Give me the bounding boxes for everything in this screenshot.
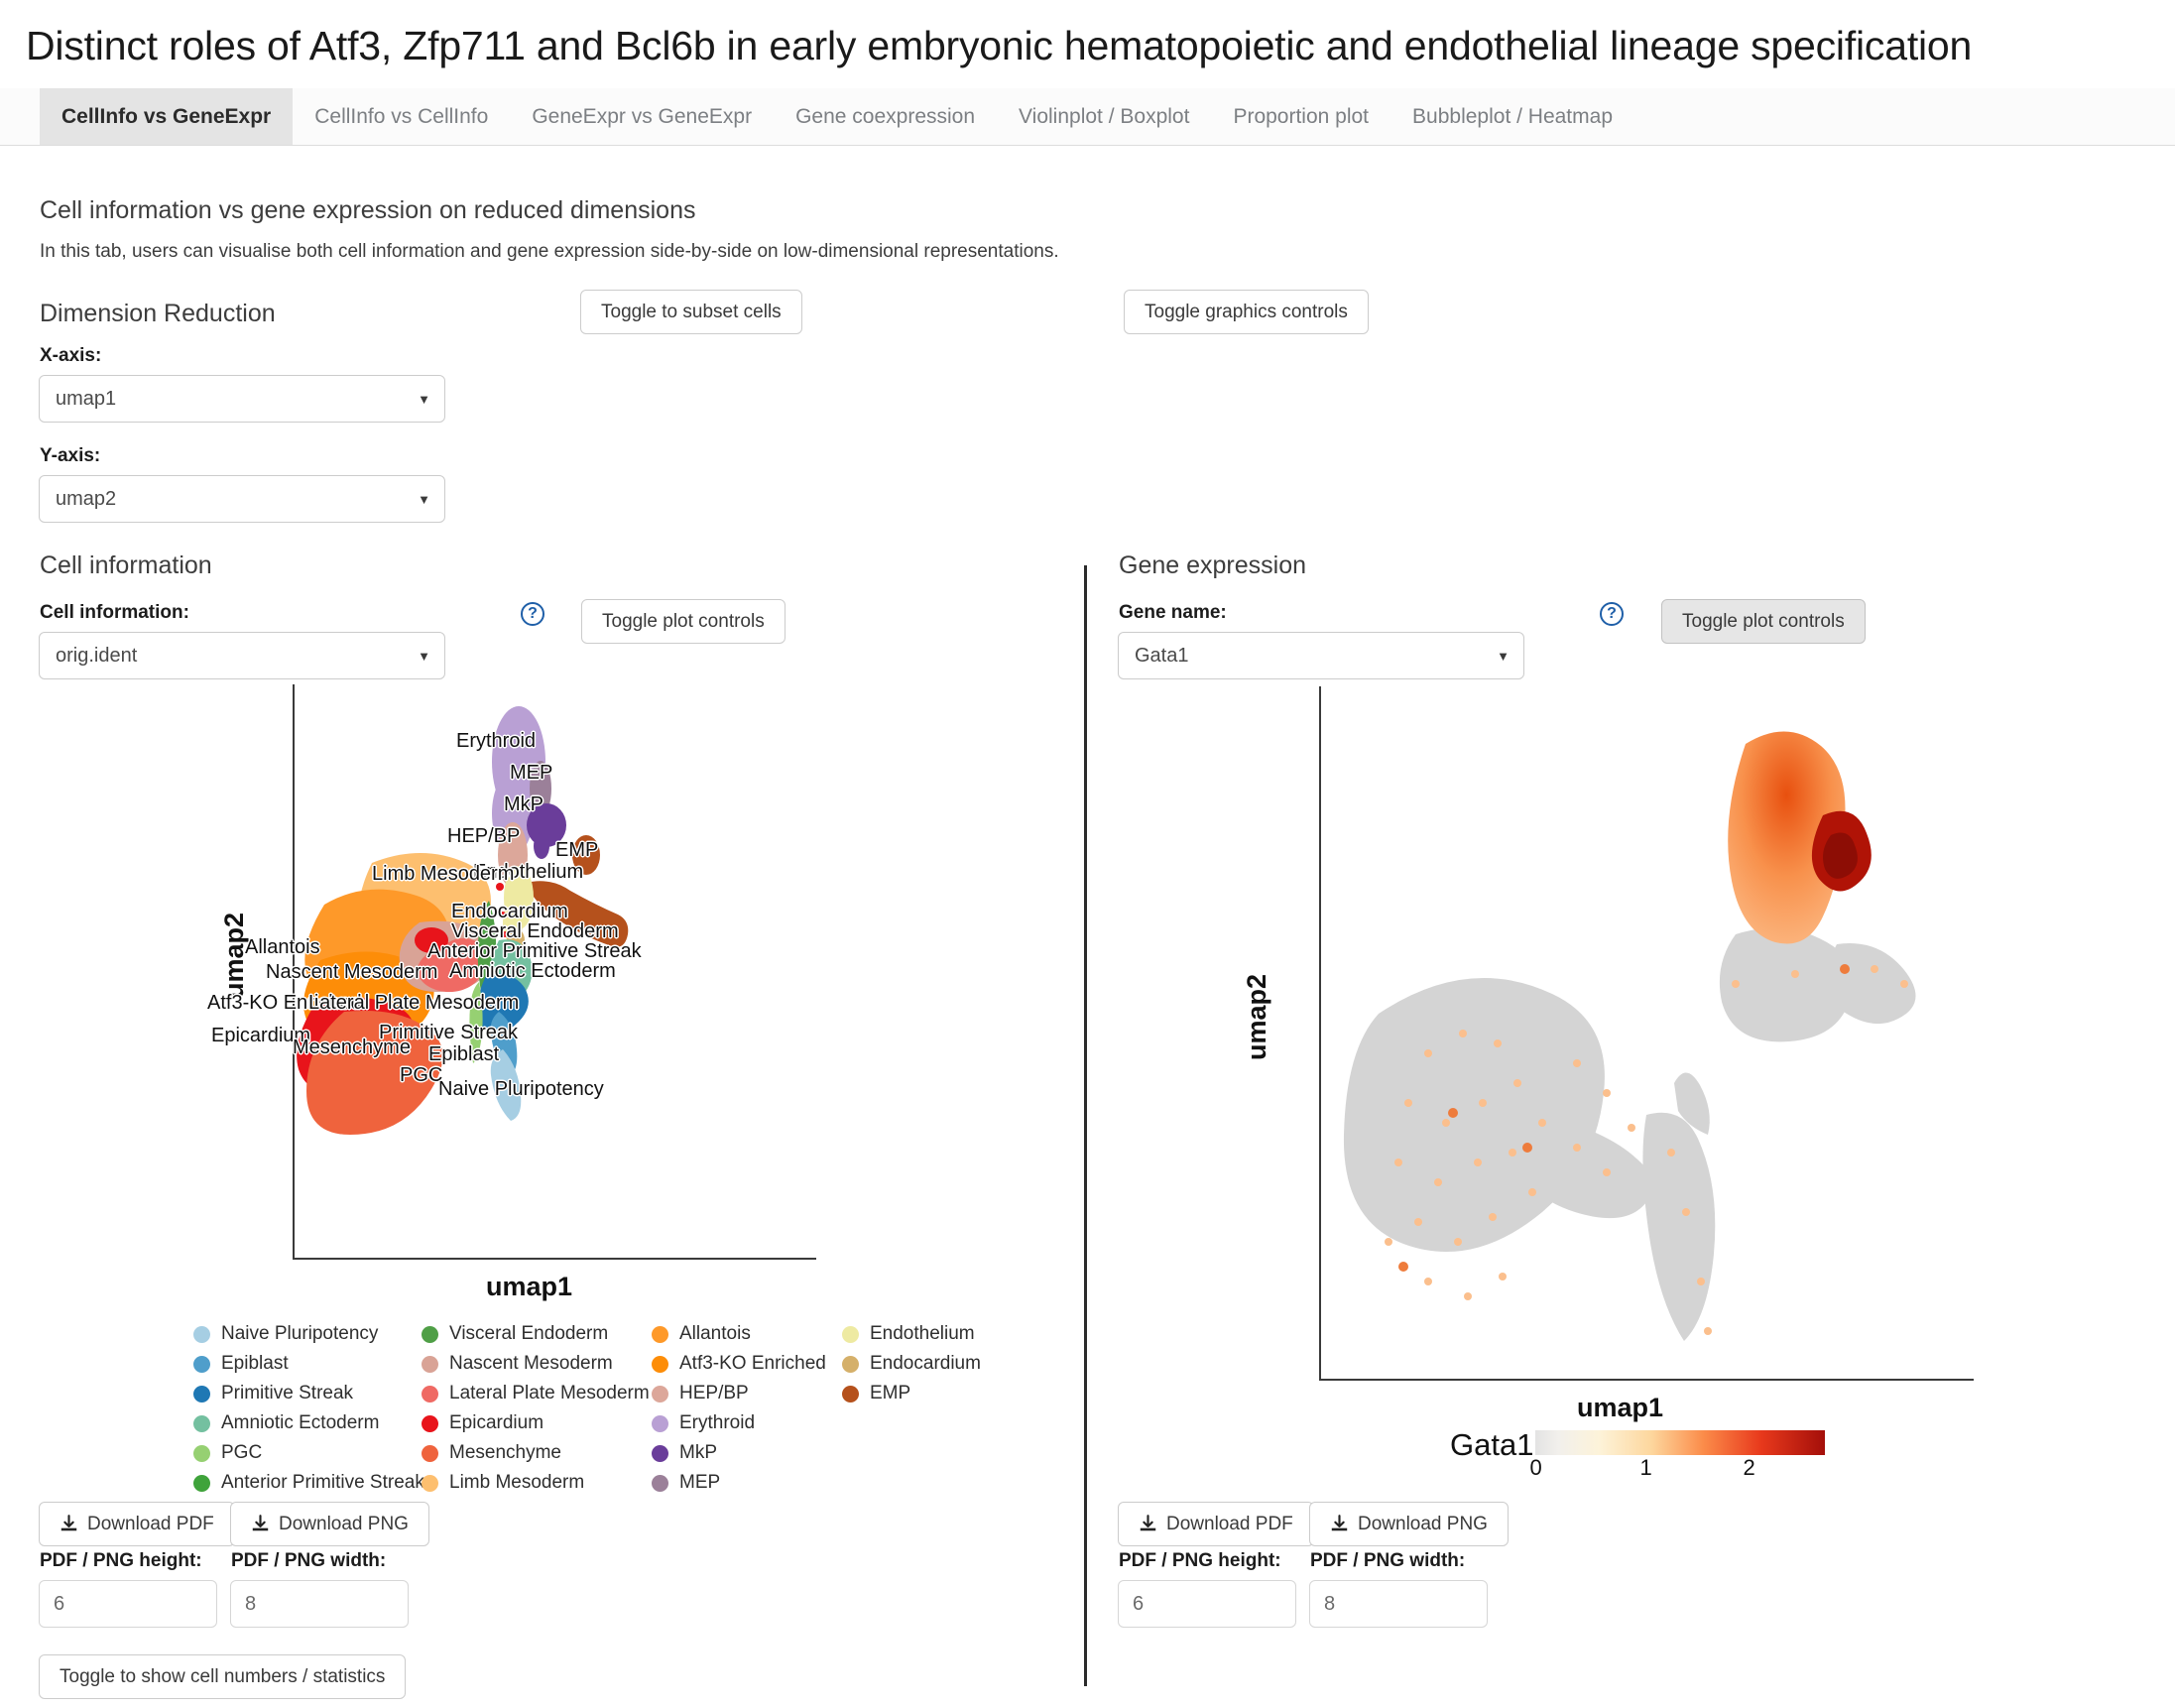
- legend-color-dot: [422, 1415, 438, 1432]
- right-download-pdf-button[interactable]: Download PDF: [1118, 1502, 1314, 1546]
- legend-item[interactable]: Endothelium: [842, 1319, 961, 1349]
- legend-color-dot: [652, 1326, 668, 1343]
- cluster-label-hep-bp: HEP/BP: [447, 825, 520, 848]
- legend-label: Epiblast: [221, 1353, 289, 1375]
- legend-label: Lateral Plate Mesoderm: [449, 1383, 650, 1404]
- legend-label: Endothelium: [870, 1323, 975, 1345]
- cluster-label-mep: MEP: [510, 762, 552, 785]
- legend-item[interactable]: MEP: [652, 1468, 842, 1498]
- download-icon: [1139, 1515, 1157, 1533]
- geneexpr-scatter-canvas: [1279, 686, 1994, 1401]
- legend-label: Primitive Streak: [221, 1383, 353, 1404]
- cluster-label-nascent-mesoderm: Nascent Mesoderm: [266, 961, 437, 984]
- intro-description: In this tab, users can visualise both ce…: [40, 241, 1059, 263]
- colorbar-tick-1: 1: [1639, 1455, 1651, 1481]
- download-icon: [1330, 1515, 1349, 1533]
- legend-color-dot: [652, 1356, 668, 1373]
- gene-name-field-label: Gene name:: [1119, 602, 1227, 624]
- legend-item[interactable]: PGC: [193, 1438, 422, 1468]
- tab-bar: CellInfo vs GeneExpr CellInfo vs CellInf…: [0, 88, 2175, 146]
- legend-color-dot: [422, 1356, 438, 1373]
- legend-color-dot: [193, 1445, 210, 1462]
- legend-color-dot: [652, 1445, 668, 1462]
- chevron-down-icon: ▼: [418, 493, 430, 506]
- cluster-label-naive-pluripotency: Naive Pluripotency: [438, 1078, 604, 1101]
- legend-label: Allantois: [679, 1323, 751, 1345]
- legend-color-dot: [652, 1415, 668, 1432]
- legend-color-dot: [422, 1326, 438, 1343]
- legend-item[interactable]: EMP: [842, 1379, 961, 1408]
- legend-item[interactable]: Allantois: [652, 1319, 842, 1349]
- chevron-down-icon: ▼: [1497, 650, 1510, 663]
- cluster-label-erythroid: Erythroid: [456, 730, 536, 753]
- legend-label: Anterior Primitive Streak: [221, 1472, 424, 1494]
- colorbar-gradient: [1535, 1430, 1825, 1455]
- legend-item[interactable]: Mesenchyme: [422, 1438, 652, 1468]
- download-icon: [251, 1515, 270, 1533]
- cell-information-field-label: Cell information:: [40, 602, 189, 624]
- legend-item[interactable]: Epiblast: [193, 1349, 422, 1379]
- legend-label: HEP/BP: [679, 1383, 749, 1404]
- gene-name-value: Gata1: [1135, 645, 1188, 668]
- cellinfo-legend: Naive Pluripotency Visceral Endoderm All…: [193, 1319, 961, 1498]
- legend-item[interactable]: Visceral Endoderm: [422, 1319, 652, 1349]
- right-toggle-plot-controls-button[interactable]: Toggle plot controls: [1661, 599, 1866, 644]
- x-axis-label: X-axis:: [40, 345, 101, 367]
- legend-item[interactable]: Anterior Primitive Streak: [193, 1468, 422, 1498]
- legend-label: Naive Pluripotency: [221, 1323, 378, 1345]
- cellinfo-umap-plot[interactable]: umap2 umap1 Erythroid MEP MkP HEP/BP EMP…: [253, 684, 868, 1260]
- toggle-subset-cells-button[interactable]: Toggle to subset cells: [580, 290, 802, 334]
- legend-color-dot: [652, 1475, 668, 1492]
- app-page: Distinct roles of Atf3, Zfp711 and Bcl6b…: [0, 0, 2175, 1708]
- legend-color-dot: [422, 1475, 438, 1492]
- cellinfo-x-axis-title: umap1: [486, 1272, 572, 1302]
- legend-label: Erythroid: [679, 1412, 755, 1434]
- left-height-input[interactable]: 6: [39, 1580, 217, 1628]
- left-download-png-button[interactable]: Download PNG: [230, 1502, 429, 1546]
- legend-item[interactable]: Lateral Plate Mesoderm: [422, 1379, 652, 1408]
- legend-item[interactable]: HEP/BP: [652, 1379, 842, 1408]
- legend-color-dot: [193, 1386, 210, 1403]
- intro-heading: Cell information vs gene expression on r…: [40, 196, 695, 225]
- y-axis-select[interactable]: umap2 ▼: [39, 475, 445, 523]
- gene-expression-colorbar: Gata1 0 1 2: [1450, 1430, 1825, 1481]
- cell-information-title: Cell information: [40, 551, 212, 580]
- colorbar-ticks: 0 1 2: [1535, 1455, 1825, 1481]
- legend-item[interactable]: Erythroid: [652, 1408, 842, 1438]
- cluster-label-allantois: Allantois: [245, 936, 320, 959]
- legend-color-dot: [193, 1475, 210, 1492]
- chevron-down-icon: ▼: [418, 393, 430, 406]
- cell-information-select[interactable]: orig.ident ▼: [39, 632, 445, 679]
- tab-geneexpr-vs-geneexpr[interactable]: GeneExpr vs GeneExpr: [510, 88, 774, 145]
- gene-expression-help-icon[interactable]: ?: [1600, 602, 1624, 626]
- cluster-label-mkp: MkP: [504, 793, 544, 816]
- cluster-label-mesenchyme: Mesenchyme: [293, 1037, 411, 1059]
- gene-expression-title: Gene expression: [1119, 551, 1306, 580]
- page-title: Distinct roles of Atf3, Zfp711 and Bcl6b…: [0, 0, 2175, 70]
- colorbar-title: Gata1: [1450, 1430, 1533, 1460]
- right-download-png-button[interactable]: Download PNG: [1309, 1502, 1509, 1546]
- legend-item[interactable]: Endocardium: [842, 1349, 961, 1379]
- legend-spacer: [842, 1408, 961, 1438]
- legend-item[interactable]: Primitive Streak: [193, 1379, 422, 1408]
- toggle-cell-numbers-statistics-button[interactable]: Toggle to show cell numbers / statistics: [39, 1654, 406, 1699]
- legend-label: Epicardium: [449, 1412, 544, 1434]
- legend-label: PGC: [221, 1442, 262, 1464]
- right-download-png-label: Download PNG: [1358, 1515, 1488, 1533]
- legend-color-dot: [842, 1326, 859, 1343]
- x-axis-value: umap1: [56, 388, 116, 411]
- left-download-pdf-label: Download PDF: [87, 1515, 214, 1533]
- tab-cellinfo-vs-geneexpr[interactable]: CellInfo vs GeneExpr: [40, 88, 293, 145]
- right-height-input[interactable]: 6: [1118, 1580, 1296, 1628]
- legend-item[interactable]: Limb Mesoderm: [422, 1468, 652, 1498]
- colorbar-tick-0: 0: [1529, 1455, 1541, 1481]
- tab-violinplot-boxplot[interactable]: Violinplot / Boxplot: [997, 88, 1211, 145]
- cluster-label-emp: EMP: [555, 839, 598, 862]
- cell-information-value: orig.ident: [56, 645, 137, 668]
- chevron-down-icon: ▼: [418, 650, 430, 663]
- legend-label: MkP: [679, 1442, 717, 1464]
- legend-color-dot: [193, 1356, 210, 1373]
- legend-item[interactable]: Epicardium: [422, 1408, 652, 1438]
- x-axis-select[interactable]: umap1 ▼: [39, 375, 445, 423]
- left-download-pdf-button[interactable]: Download PDF: [39, 1502, 235, 1546]
- right-download-pdf-label: Download PDF: [1166, 1515, 1293, 1533]
- left-width-label: PDF / PNG width:: [231, 1550, 386, 1572]
- y-axis-value: umap2: [56, 488, 116, 511]
- legend-label: Visceral Endoderm: [449, 1323, 608, 1345]
- left-toggle-plot-controls-button[interactable]: Toggle plot controls: [581, 599, 785, 644]
- legend-item[interactable]: MkP: [652, 1438, 842, 1468]
- cluster-label-lateral-plate-mesoderm: Lateral Plate Mesoderm: [308, 992, 519, 1015]
- cell-information-help-icon[interactable]: ?: [521, 602, 544, 626]
- tab-gene-coexpression[interactable]: Gene coexpression: [774, 88, 997, 145]
- legend-color-dot: [842, 1356, 859, 1373]
- geneexpr-y-axis-title: umap2: [1242, 974, 1272, 1060]
- legend-color-dot: [652, 1386, 668, 1403]
- legend-label: Amniotic Ectoderm: [221, 1412, 379, 1434]
- geneexpr-x-axis-title: umap1: [1577, 1393, 1663, 1423]
- right-width-label: PDF / PNG width:: [1310, 1550, 1465, 1572]
- legend-spacer: [842, 1438, 961, 1468]
- gene-name-select[interactable]: Gata1 ▼: [1118, 632, 1524, 679]
- legend-color-dot: [193, 1415, 210, 1432]
- left-width-input[interactable]: 8: [230, 1580, 409, 1628]
- legend-label: Limb Mesoderm: [449, 1472, 584, 1494]
- legend-label: Mesenchyme: [449, 1442, 561, 1464]
- cluster-label-pgc: PGC: [400, 1064, 442, 1087]
- right-height-label: PDF / PNG height:: [1119, 1550, 1281, 1572]
- legend-item[interactable]: Atf3-KO Enriched: [652, 1349, 842, 1379]
- legend-item[interactable]: Amniotic Ectoderm: [193, 1408, 422, 1438]
- legend-item[interactable]: Nascent Mesoderm: [422, 1349, 652, 1379]
- legend-color-dot: [422, 1445, 438, 1462]
- tab-proportion-plot[interactable]: Proportion plot: [1211, 88, 1390, 145]
- toggle-graphics-controls-button[interactable]: Toggle graphics controls: [1124, 290, 1369, 334]
- left-height-label: PDF / PNG height:: [40, 1550, 202, 1572]
- legend-color-dot: [842, 1386, 859, 1403]
- legend-color-dot: [422, 1386, 438, 1403]
- legend-color-dot: [193, 1326, 210, 1343]
- left-download-png-label: Download PNG: [279, 1515, 409, 1533]
- tab-bubbleplot-heatmap[interactable]: Bubbleplot / Heatmap: [1390, 88, 1634, 145]
- legend-label: EMP: [870, 1383, 910, 1404]
- cluster-label-limb-mesoderm: Limb Mesoderm: [372, 863, 514, 886]
- panel-divider: [1084, 565, 1087, 1686]
- legend-label: Endocardium: [870, 1353, 981, 1375]
- y-axis-label: Y-axis:: [40, 445, 100, 467]
- legend-label: MEP: [679, 1472, 720, 1494]
- tab-cellinfo-vs-cellinfo[interactable]: CellInfo vs CellInfo: [293, 88, 510, 145]
- colorbar-tick-2: 2: [1743, 1455, 1754, 1481]
- right-width-input[interactable]: 8: [1309, 1580, 1488, 1628]
- dimension-reduction-title: Dimension Reduction: [40, 300, 276, 328]
- legend-label: Atf3-KO Enriched: [679, 1353, 826, 1375]
- geneexpr-umap-plot[interactable]: umap2 umap1: [1279, 686, 1994, 1401]
- legend-spacer: [842, 1468, 961, 1498]
- legend-item[interactable]: Naive Pluripotency: [193, 1319, 422, 1349]
- cluster-label-amniotic-ectoderm: Amniotic Ectoderm: [449, 960, 616, 983]
- download-icon: [60, 1515, 78, 1533]
- legend-label: Nascent Mesoderm: [449, 1353, 613, 1375]
- cluster-label-epiblast: Epiblast: [428, 1043, 499, 1066]
